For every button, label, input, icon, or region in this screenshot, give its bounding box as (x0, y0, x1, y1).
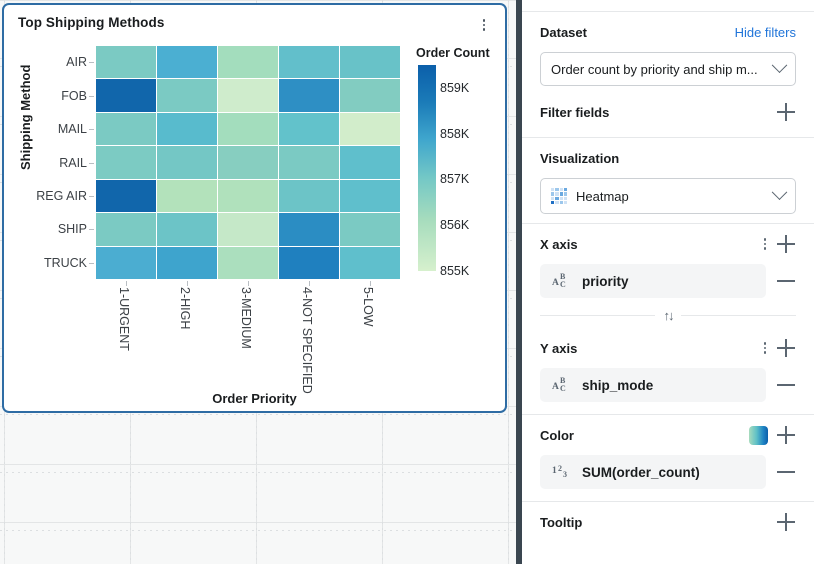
heatmap-cell[interactable] (340, 46, 400, 78)
heatmap-cell[interactable] (279, 247, 339, 279)
hide-filters-link[interactable]: Hide filters (735, 25, 796, 40)
dataset-section-header: Dataset Hide filters (540, 12, 796, 52)
heatmap-cell[interactable] (96, 247, 156, 279)
tooltip-label: Tooltip (540, 515, 582, 530)
heatmap-row (96, 46, 400, 78)
abc-string-icon: ABC (552, 377, 570, 393)
color-section-header: Color (540, 415, 796, 455)
heatmap-cell[interactable] (279, 213, 339, 245)
legend-title: Order Count (416, 46, 490, 60)
remove-y-axis-field-button[interactable] (776, 375, 796, 395)
visualization-label: Visualization (540, 151, 619, 166)
x-axis-label: X axis (540, 237, 578, 252)
heatmap-cell[interactable] (340, 113, 400, 145)
heatmap-row (96, 146, 400, 178)
heatmap-cell[interactable] (218, 79, 278, 111)
heatmap-plot: AIRFOBMAILRAILREG AIRSHIPTRUCK1-URGENT2-… (96, 46, 400, 279)
canvas-guide-line (0, 414, 518, 415)
heatmap-cell[interactable] (279, 79, 339, 111)
filter-fields-label: Filter fields (540, 105, 609, 120)
legend-tick-label: 859K (440, 81, 469, 95)
y-axis-tick (89, 163, 94, 164)
heatmap-cell[interactable] (279, 113, 339, 145)
heatmap-cell[interactable] (340, 247, 400, 279)
y-axis-tick-label: MAIL (10, 122, 96, 136)
heatmap-cell[interactable] (218, 213, 278, 245)
abc-string-icon: ABC (552, 273, 570, 289)
heatmap-cell[interactable] (218, 146, 278, 178)
heatmap-cell[interactable] (218, 180, 278, 212)
heatmap-cell[interactable] (340, 213, 400, 245)
heatmap-cell[interactable] (96, 46, 156, 78)
x-axis-tick-label: 3-MEDIUM (239, 287, 253, 349)
x-axis-tick-label: 5-LOW (361, 287, 375, 327)
chevron-down-icon (772, 57, 788, 73)
add-x-axis-field-button[interactable] (776, 234, 796, 254)
y-axis-tick-label: TRUCK (10, 256, 96, 270)
x-axis-tick-label: 4-NOT SPECIFIED (300, 287, 314, 394)
x-axis-tick-label: 2-HIGH (178, 287, 192, 329)
heatmap-row (96, 247, 400, 279)
config-panel: Dataset Hide filters Order count by prio… (522, 0, 814, 564)
gradient-swatch-icon[interactable] (749, 426, 768, 445)
add-tooltip-field-button[interactable] (776, 512, 796, 532)
123-number-icon: 1 2 3 (552, 464, 570, 480)
kebab-menu-icon[interactable] (477, 17, 491, 33)
heatmap-cell[interactable] (157, 79, 217, 111)
x-axis-tick (370, 281, 371, 286)
color-field-name: SUM(order_count) (582, 465, 700, 480)
x-axis-field-name: priority (582, 274, 629, 289)
heatmap-cell[interactable] (340, 146, 400, 178)
y-axis-section-header: Y axis (540, 328, 796, 368)
y-axis-tick (89, 229, 94, 230)
x-axis-section-header: X axis (540, 224, 796, 264)
x-axis-tick (126, 281, 127, 286)
heatmap-cell[interactable] (157, 213, 217, 245)
dataset-select-value: Order count by priority and ship m... (551, 62, 768, 77)
dataset-label: Dataset (540, 25, 587, 40)
heatmap-cell[interactable] (218, 247, 278, 279)
heatmap-cell[interactable] (96, 180, 156, 212)
x-axis-tick-label: 1-URGENT (117, 287, 131, 351)
y-axis-tick (89, 62, 94, 63)
y-axis-tick (89, 263, 94, 264)
y-axis-label: Y axis (540, 341, 577, 356)
x-axis-kebab-menu-icon[interactable] (758, 236, 772, 252)
remove-x-axis-field-button[interactable] (776, 271, 796, 291)
x-axis-tick (248, 281, 249, 286)
x-axis-field-row: ABC priority (540, 264, 796, 298)
heatmap-row (96, 180, 400, 212)
y-axis-tick (89, 129, 94, 130)
heatmap-cell[interactable] (218, 46, 278, 78)
heatmap-cell[interactable] (340, 79, 400, 111)
y-axis-tick-label: FOB (10, 89, 96, 103)
heatmap-cell[interactable] (340, 180, 400, 212)
x-axis-field-pill[interactable]: ABC priority (540, 264, 766, 298)
canvas-guide-line (508, 0, 509, 564)
heatmap-cell[interactable] (157, 113, 217, 145)
x-axis-tick (309, 281, 310, 286)
swap-vertical-arrows-icon[interactable]: ↑↓ (655, 309, 681, 322)
canvas-guide-line (0, 530, 518, 531)
heatmap-cell[interactable] (157, 146, 217, 178)
legend-tick-label: 858K (440, 127, 469, 141)
legend-tick-label: 856K (440, 218, 469, 232)
add-y-axis-field-button[interactable] (776, 338, 796, 358)
y-axis-field-name: ship_mode (582, 378, 653, 393)
add-filter-field-button[interactable] (776, 102, 796, 122)
heatmap-cell[interactable] (279, 46, 339, 78)
divider-left (540, 315, 655, 316)
filter-fields-section-header: Filter fields (540, 92, 796, 132)
heatmap-cell[interactable] (96, 113, 156, 145)
y-axis-tick-label: SHIP (10, 222, 96, 236)
heatmap-cell[interactable] (279, 146, 339, 178)
visualization-select-value: Heatmap (576, 189, 768, 204)
y-axis-title: Shipping Method (18, 65, 33, 170)
heatmap-cell[interactable] (157, 180, 217, 212)
divider-right (681, 315, 796, 316)
add-color-field-button[interactable] (776, 425, 796, 445)
dataset-select[interactable]: Order count by priority and ship m... (540, 52, 796, 86)
heatmap-cell[interactable] (96, 79, 156, 111)
y-axis-field-row: ABC ship_mode (540, 368, 796, 402)
heatmap-cell[interactable] (157, 247, 217, 279)
y-axis-tick (89, 196, 94, 197)
visualization-section-header: Visualization (540, 138, 796, 178)
y-axis-field-pill[interactable]: ABC ship_mode (540, 368, 766, 402)
y-axis-tick-label: REG AIR (10, 189, 96, 203)
color-label: Color (540, 428, 574, 443)
swap-axes-row: ↑↓ (540, 302, 796, 328)
chevron-down-icon (772, 184, 788, 200)
y-axis-tick-label: RAIL (10, 156, 96, 170)
dashboard-canvas: Top Shipping Methods Shipping Method AIR… (0, 0, 518, 564)
x-axis-tick (187, 281, 188, 286)
legend-tick-label: 857K (440, 172, 469, 186)
legend-colorbar (418, 65, 436, 271)
page-title: Top Shipping Methods (18, 15, 164, 30)
legend-tick-label: 855K (440, 264, 469, 278)
visualization-select[interactable]: Heatmap (540, 178, 796, 214)
heatmap-grid-icon (551, 188, 567, 204)
y-axis-kebab-menu-icon[interactable] (758, 340, 772, 356)
tooltip-section-header: Tooltip (540, 502, 796, 542)
heatmap-cell[interactable] (96, 146, 156, 178)
heatmap-row (96, 79, 400, 111)
heatmap-row (96, 213, 400, 245)
chart-card[interactable]: Top Shipping Methods Shipping Method AIR… (2, 3, 507, 413)
heatmap-row (96, 113, 400, 145)
heatmap-cell[interactable] (218, 113, 278, 145)
color-field-row: 1 2 3 SUM(order_count) (540, 455, 796, 489)
heatmap-cell[interactable] (96, 213, 156, 245)
heatmap-cell[interactable] (279, 180, 339, 212)
x-axis-title: Order Priority (4, 391, 505, 406)
y-axis-tick (89, 96, 94, 97)
heatmap-cell[interactable] (157, 46, 217, 78)
remove-color-field-button[interactable] (776, 462, 796, 482)
color-field-pill[interactable]: 1 2 3 SUM(order_count) (540, 455, 766, 489)
canvas-guide-line (0, 472, 518, 473)
y-axis-tick-label: AIR (10, 55, 96, 69)
